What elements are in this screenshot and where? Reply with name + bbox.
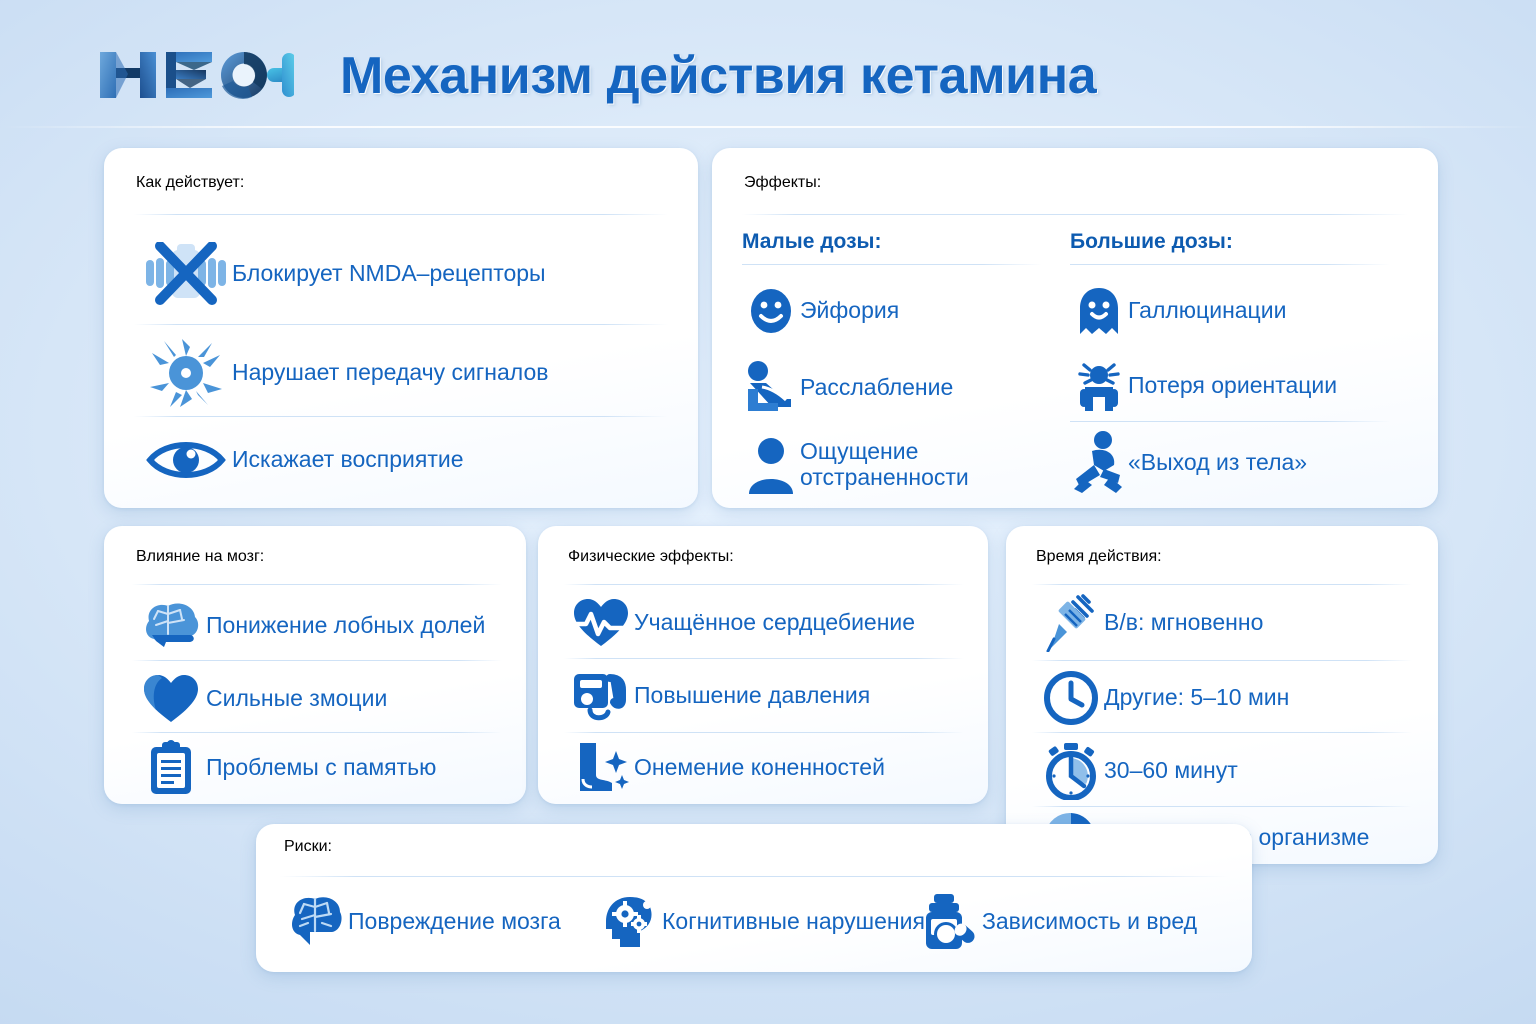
- list-item-label: Потеря ориентации: [1128, 373, 1337, 399]
- divider: [1032, 732, 1412, 733]
- list-item[interactable]: 30–60 минут: [1038, 738, 1428, 804]
- list-item-label: 30–60 минут: [1104, 758, 1238, 784]
- list-item-label: Зависимость и вред: [982, 909, 1197, 935]
- list-item-label: Повышение давления: [634, 683, 870, 709]
- divider: [1032, 660, 1412, 661]
- list-item[interactable]: Блокирует NMDA–рецепторы: [140, 230, 680, 318]
- list-item-label: Учащённое сердцебиение: [634, 610, 915, 636]
- divider: [280, 876, 1228, 877]
- clipboard-icon: [136, 739, 206, 797]
- divider: [134, 214, 668, 215]
- list-item-label: Искажает восприятие: [232, 447, 464, 473]
- divider: [134, 416, 668, 417]
- subsection-title-high-dose: Большие дозы:: [1070, 230, 1410, 254]
- list-item[interactable]: Повреждение мозга: [282, 886, 561, 958]
- divider: [1032, 584, 1412, 585]
- list-item-label: Понижение лобных долей: [206, 613, 485, 639]
- list-item-label: Расслабление: [800, 375, 953, 401]
- list-item-label: Сильные змоции: [206, 686, 387, 712]
- divider: [564, 658, 964, 659]
- divider: [742, 214, 1408, 215]
- list-item-label: Проблемы с памятью: [206, 755, 436, 781]
- ghost-icon: [1070, 282, 1128, 340]
- blocked-receptor-icon: [140, 238, 232, 310]
- list-item[interactable]: Потеря ориентации: [1070, 351, 1410, 421]
- heart-pulse-icon: [568, 597, 634, 649]
- divider: [1032, 806, 1412, 807]
- brain-icon: [136, 598, 206, 654]
- divider: [1070, 264, 1390, 265]
- list-item[interactable]: Онемение коненностей: [568, 738, 978, 798]
- pill-bottle-icon: [916, 891, 982, 953]
- head-gears-icon: [596, 891, 662, 953]
- line-2: отстраненности: [800, 464, 969, 490]
- list-item-label: В/в: мгновенно: [1104, 610, 1263, 636]
- list-item-label: Ощущение отстраненности: [800, 439, 969, 491]
- divider: [132, 660, 502, 661]
- list-item[interactable]: Искажает восприятие: [140, 424, 680, 496]
- divider: [564, 584, 964, 585]
- list-item-label: Онемение коненностей: [634, 755, 885, 781]
- list-item[interactable]: Нарушает передачу сигналов: [140, 332, 680, 414]
- confused-person-icon: [1070, 357, 1128, 415]
- card-how-it-works: Как действует: Блокирует NMDA–рецепторы: [104, 148, 698, 508]
- header-divider: [0, 126, 1536, 128]
- list-item[interactable]: В/в: мгновенно: [1038, 590, 1428, 656]
- page-header: Механизм действия кетамина: [0, 0, 1536, 128]
- divider: [132, 584, 502, 585]
- list-item[interactable]: Другие: 5–10 мин: [1038, 666, 1428, 730]
- divider: [742, 264, 1042, 265]
- brain-damage-icon: [282, 891, 348, 953]
- list-item[interactable]: Учащённое сердцебиение: [568, 592, 978, 654]
- blood-pressure-monitor-icon: [568, 667, 634, 725]
- list-item[interactable]: Зависимость и вред: [916, 886, 1197, 958]
- list-item[interactable]: Расслабление: [742, 351, 1062, 425]
- list-item[interactable]: Понижение лобных долей: [136, 594, 516, 658]
- stopwatch-icon: [1038, 741, 1104, 801]
- card-brain-title: Влияние на мозг:: [136, 548, 264, 566]
- card-time-title: Время действия:: [1036, 548, 1162, 566]
- divider: [1070, 421, 1390, 422]
- boot-numbness-icon: [568, 740, 634, 796]
- reclining-person-icon: [742, 356, 800, 420]
- card-risks-title: Риски:: [284, 838, 332, 856]
- divider: [134, 324, 668, 325]
- line-1: Ощущение: [800, 438, 918, 464]
- heart-icon: [136, 673, 206, 725]
- card-duration: Время действия: В/в: мгновенно: [1006, 526, 1438, 864]
- card-effects-title: Эффекты:: [744, 174, 821, 192]
- person-bust-icon: [742, 434, 800, 496]
- list-item-label: Повреждение мозга: [348, 909, 561, 935]
- list-item[interactable]: Ощущение отстраненности: [742, 427, 1062, 503]
- clock-icon: [1038, 669, 1104, 727]
- divider: [564, 732, 964, 733]
- brand-logo: [94, 44, 294, 106]
- card-physical-effects: Физические эффекты: Учащённое сердцебиен…: [538, 526, 988, 804]
- list-item[interactable]: Сильные змоции: [136, 668, 516, 730]
- card-effects: Эффекты: Малые дозы: Эйфория: [712, 148, 1438, 508]
- list-item-label: Эйфория: [800, 298, 899, 324]
- list-item[interactable]: Галлюцинации: [1070, 275, 1410, 347]
- list-item-label: «Выход из тела»: [1128, 450, 1307, 476]
- page-title: Механизм действия кетамина: [340, 46, 1096, 106]
- divider: [132, 732, 502, 733]
- card-how-title: Как действует:: [136, 174, 244, 192]
- eye-icon: [140, 432, 232, 488]
- list-item[interactable]: «Выход из тела»: [1070, 426, 1410, 500]
- list-item-label: Другие: 5–10 мин: [1104, 685, 1289, 711]
- list-item-label: Блокирует NMDA–рецепторы: [232, 261, 546, 287]
- list-item[interactable]: Повышение давления: [568, 664, 978, 728]
- list-item-label: Когнитивные нарушения: [662, 909, 925, 935]
- list-item[interactable]: Проблемы с памятью: [136, 738, 516, 798]
- neuron-icon: [140, 337, 232, 409]
- floating-person-icon: [1070, 429, 1128, 497]
- smiley-icon: [742, 282, 800, 340]
- list-item-label: Нарушает передачу сигналов: [232, 360, 548, 386]
- list-item[interactable]: Эйфория: [742, 275, 1062, 347]
- syringe-icon: [1038, 593, 1104, 653]
- card-risks: Риски: Повреждение мозга: [256, 824, 1252, 972]
- card-brain-impact: Влияние на мозг: Понижение лобных долей: [104, 526, 526, 804]
- list-item[interactable]: Когнитивные нарушения: [596, 886, 925, 958]
- subsection-title-low-dose: Малые дозы:: [742, 230, 1062, 254]
- list-item-label: Галлюцинации: [1128, 298, 1286, 324]
- card-physical-title: Физические эффекты:: [568, 548, 734, 566]
